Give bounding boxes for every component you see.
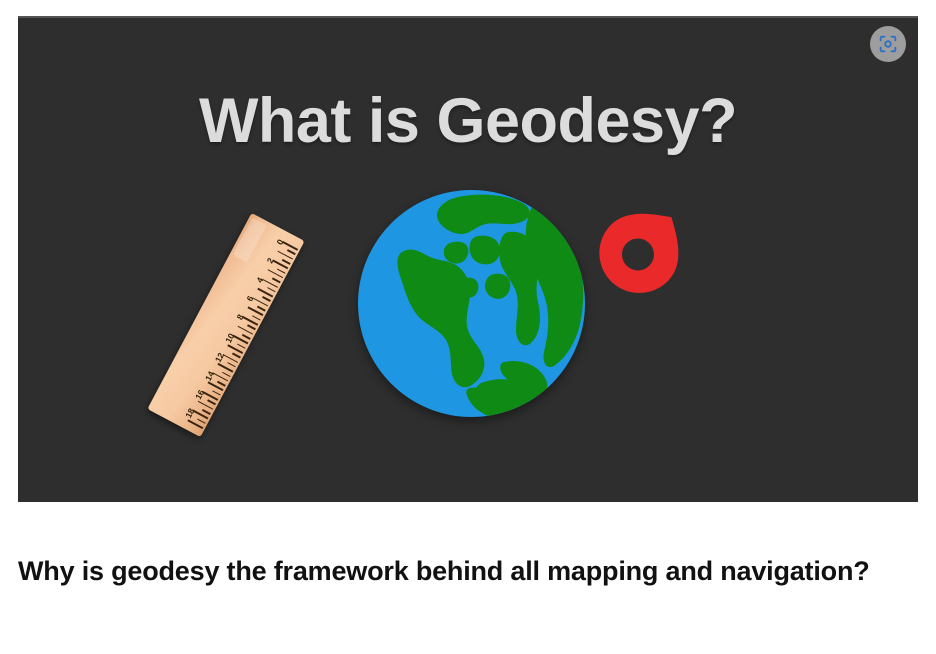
ruler-tick	[197, 418, 206, 424]
ruler-number: 2	[265, 256, 276, 265]
ruler-tick	[208, 382, 224, 391]
ruler-tick	[272, 260, 288, 269]
ruler-tick	[277, 250, 293, 259]
ruler-tick	[188, 419, 204, 428]
ruler-body	[147, 213, 304, 437]
ruler-highlight	[233, 218, 267, 263]
image-title: What is Geodesy?	[18, 90, 918, 153]
ruler-tick	[217, 363, 233, 372]
ruler-tick	[198, 401, 214, 410]
ruler-tick	[282, 241, 298, 250]
ruler-tick	[262, 279, 278, 288]
ruler-tick	[222, 371, 231, 377]
ruler-numbers: 024681012141618	[252, 213, 305, 241]
ruler-tick	[203, 391, 219, 400]
ruler-ticks	[252, 213, 305, 241]
earth-globe-icon	[358, 190, 585, 417]
ruler-tick	[207, 400, 216, 406]
ruler-tick	[257, 288, 273, 297]
ruler-number: 16	[193, 388, 206, 401]
ruler-number: 6	[245, 294, 256, 303]
ruler-tick	[193, 410, 209, 419]
article-hero-image: 024681012141618	[18, 16, 918, 502]
ruler-number: 8	[235, 313, 246, 322]
globe-landmass-svg	[358, 190, 585, 417]
ruler-number: 4	[255, 275, 266, 284]
ruler-tick	[277, 268, 286, 274]
ruler-tick	[232, 335, 248, 344]
ruler-tick	[217, 381, 226, 387]
ruler-tick	[242, 316, 258, 325]
ruler-tick	[213, 372, 229, 381]
ruler-number: 18	[183, 407, 196, 420]
ruler-tick	[287, 249, 296, 255]
ruler-number: 0	[275, 238, 286, 247]
ruler-tick	[267, 287, 276, 293]
ruler-tick	[252, 315, 261, 321]
map-pin-svg	[577, 185, 707, 315]
ruler-tick	[247, 325, 256, 331]
ruler-tick	[252, 297, 268, 306]
ruler-tick	[227, 362, 236, 368]
ruler-tick	[202, 409, 211, 415]
ruler-tick	[272, 278, 281, 284]
ruler-tick	[262, 296, 271, 302]
ruler-tick	[257, 306, 266, 312]
ruler-tick	[247, 307, 263, 316]
ruler-tick	[227, 344, 243, 353]
ruler-tick	[237, 325, 253, 334]
ruler-tick	[222, 354, 238, 363]
ruler-tick	[267, 269, 283, 278]
article-caption: Why is geodesy the framework behind all …	[18, 548, 898, 594]
ruler-number: 10	[223, 332, 236, 345]
map-location-pin-icon	[577, 185, 707, 315]
ruler-tick	[212, 390, 221, 396]
wooden-ruler-icon: 024681012141618	[147, 213, 304, 437]
ruler-number: 12	[213, 350, 226, 363]
ruler-tick	[242, 334, 251, 340]
ruler-tick	[282, 259, 291, 265]
ruler-tick	[232, 353, 241, 359]
ruler-tick	[237, 343, 246, 349]
google-lens-scan-icon	[877, 33, 899, 55]
google-lens-button[interactable]	[870, 26, 906, 62]
ruler-number: 14	[203, 369, 216, 382]
